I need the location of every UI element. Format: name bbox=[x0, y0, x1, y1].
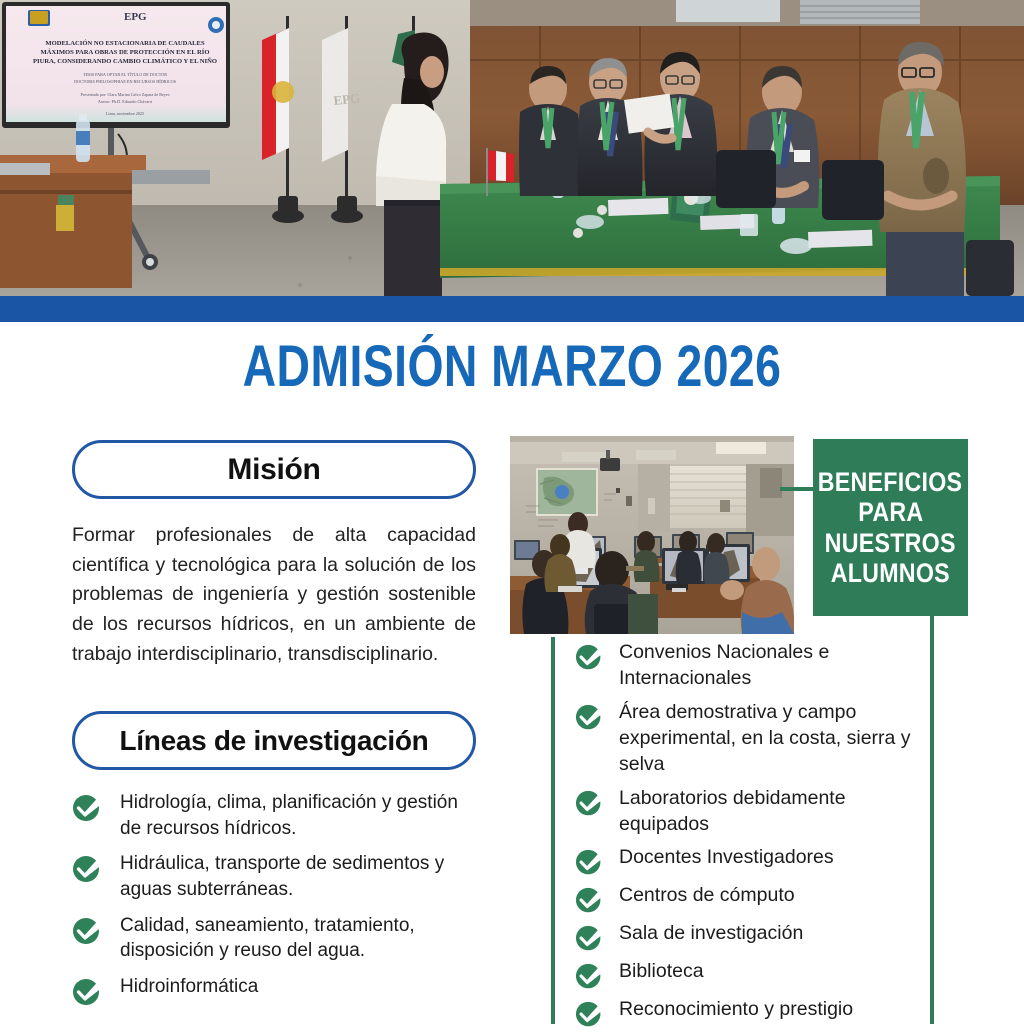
list-item-label: Hidrología, clima, planificación y gesti… bbox=[120, 790, 476, 841]
list-item-label: Centros de cómputo bbox=[619, 883, 795, 909]
connector-line-right-vertical bbox=[930, 616, 934, 1024]
benefits-list: Convenios Nacionales e Internacionales Á… bbox=[575, 640, 925, 1035]
connector-line-left-vertical bbox=[551, 637, 555, 1024]
list-item: Calidad, saneamiento, tratamiento, dispo… bbox=[72, 913, 476, 964]
list-item: Sala de investigación bbox=[575, 921, 925, 951]
check-circle-icon bbox=[575, 999, 607, 1027]
benefits-heading-line: NUESTROS bbox=[825, 528, 956, 558]
mission-body-text: Formar profesionales de alta capacidad c… bbox=[72, 521, 476, 669]
benefits-heading-box: BENEFICIOS PARA NUESTROS ALUMNOS bbox=[813, 439, 968, 616]
list-item-label: Biblioteca bbox=[619, 959, 704, 985]
list-item-label: Sala de investigación bbox=[619, 921, 803, 947]
research-lines-heading-pill: Líneas de investigación bbox=[72, 711, 476, 770]
list-item: Hidrología, clima, planificación y gesti… bbox=[72, 790, 476, 841]
list-item: Biblioteca bbox=[575, 959, 925, 989]
page-title: ADMISIÓN MARZO 2026 bbox=[102, 338, 921, 396]
computer-lab-photo bbox=[510, 436, 794, 634]
list-item: Hidráulica, transporte de sedimentos y a… bbox=[72, 851, 476, 902]
research-lines-heading-label: Líneas de investigación bbox=[120, 725, 429, 757]
svg-text:Asesor: Ph.D. Eduardo Chávarri: Asesor: Ph.D. Eduardo Chávarri bbox=[98, 99, 153, 104]
benefits-heading-line: PARA bbox=[858, 497, 923, 527]
benefits-heading-line: ALUMNOS bbox=[831, 558, 950, 588]
list-item: Reconocimiento y prestigio bbox=[575, 997, 925, 1027]
check-circle-icon bbox=[575, 923, 607, 951]
list-item-label: Docentes Investigadores bbox=[619, 845, 834, 871]
list-item-label: Calidad, saneamiento, tratamiento, dispo… bbox=[120, 913, 476, 964]
svg-text:DOCTORIS PHILOSOPHIAE EN RECUR: DOCTORIS PHILOSOPHIAE EN RECURSOS HÍDRIC… bbox=[74, 79, 177, 84]
mission-heading-pill: Misión bbox=[72, 440, 476, 499]
check-circle-icon bbox=[575, 847, 607, 875]
list-item: Centros de cómputo bbox=[575, 883, 925, 913]
list-item-label: Hidráulica, transporte de sedimentos y a… bbox=[120, 851, 476, 902]
list-item: Área demostrativa y campo experimental, … bbox=[575, 700, 925, 778]
check-circle-icon bbox=[72, 915, 106, 945]
list-item: Laboratorios debidamente equipados bbox=[575, 786, 925, 838]
check-circle-icon bbox=[72, 853, 106, 883]
list-item: Docentes Investigadores bbox=[575, 845, 925, 875]
check-circle-icon bbox=[72, 976, 106, 1006]
connector-line-left bbox=[780, 487, 815, 491]
mission-heading-label: Misión bbox=[227, 453, 320, 487]
left-column: Misión Formar profesionales de alta capa… bbox=[72, 440, 476, 1016]
list-item-label: Laboratorios debidamente equipados bbox=[619, 786, 925, 838]
computer-lab-illustration bbox=[510, 436, 794, 634]
accent-bar bbox=[0, 296, 1024, 322]
svg-text:MODELACIÓN NO ESTACIONARIA DE: MODELACIÓN NO ESTACIONARIA DE CAUDALES bbox=[45, 39, 205, 47]
svg-text:PIURA, CONSIDERANDO CAMBIO CLI: PIURA, CONSIDERANDO CAMBIO CLIMÁTICO Y E… bbox=[33, 57, 217, 65]
hero-photo: EPG MODELACIÓN NO ESTACIONARIA DE CAUDAL… bbox=[0, 0, 1024, 296]
check-circle-icon bbox=[575, 961, 607, 989]
list-item-label: Hidroinformática bbox=[120, 974, 258, 1000]
check-circle-icon bbox=[575, 702, 607, 730]
benefits-heading-line: BENEFICIOS bbox=[818, 467, 963, 497]
svg-text:EPG: EPG bbox=[124, 11, 147, 23]
check-circle-icon bbox=[72, 792, 106, 822]
hero-photo-illustration: EPG MODELACIÓN NO ESTACIONARIA DE CAUDAL… bbox=[0, 0, 1024, 296]
research-lines-list: Hidrología, clima, planificación y gesti… bbox=[72, 790, 476, 1006]
svg-text:EPG: EPG bbox=[333, 90, 361, 108]
list-item: Hidroinformática bbox=[72, 974, 476, 1006]
list-item-label: Convenios Nacionales e Internacionales bbox=[619, 640, 925, 692]
list-item: Convenios Nacionales e Internacionales bbox=[575, 640, 925, 692]
list-item-label: Reconocimiento y prestigio bbox=[619, 997, 853, 1023]
check-circle-icon bbox=[575, 788, 607, 816]
svg-text:TESIS PARA OPTAR EL TÍTULO DE: TESIS PARA OPTAR EL TÍTULO DE DOCTOR bbox=[83, 72, 167, 77]
list-item-label: Área demostrativa y campo experimental, … bbox=[619, 700, 925, 778]
check-circle-icon bbox=[575, 885, 607, 913]
svg-text:MÁXIMOS PARA OBRAS DE PROTECCI: MÁXIMOS PARA OBRAS DE PROTECCIÓN EN EL R… bbox=[41, 48, 210, 56]
check-circle-icon bbox=[575, 642, 607, 670]
svg-text:Presentada por: Clara Marina C: Presentada por: Clara Marina Calvo Zapat… bbox=[81, 92, 170, 97]
